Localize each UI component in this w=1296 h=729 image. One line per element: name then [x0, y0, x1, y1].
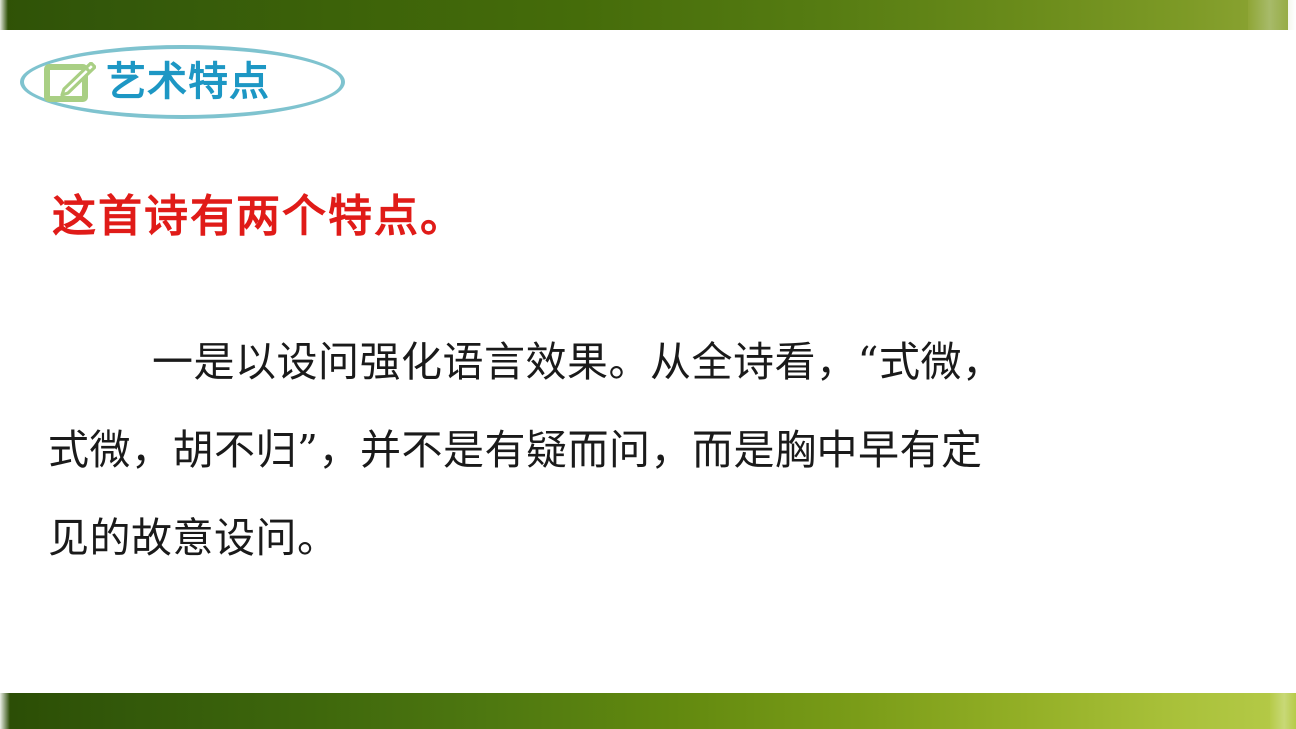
slide: 艺术特点 这首诗有两个特点。 一是以设问强化语言效果。从全诗看，“式微， 式微，… [0, 0, 1296, 729]
note-pencil-icon [44, 62, 96, 103]
top-bar-left-edge [0, 0, 8, 30]
top-decorative-bar [0, 0, 1288, 30]
bottom-bar-left-edge [0, 693, 10, 729]
section-title-badge: 艺术特点 [20, 45, 345, 119]
body-paragraph: 一是以设问强化语言效果。从全诗看，“式微， 式微，胡不归”，并不是有疑而问，而是… [48, 318, 1200, 582]
top-bar-right-fade [1248, 0, 1296, 30]
bottom-decorative-bar [0, 693, 1296, 729]
bottom-bar-right-fade [1270, 693, 1296, 729]
body-line-3: 见的故意设问。 [48, 494, 1200, 582]
red-heading: 这首诗有两个特点。 [52, 195, 466, 239]
body-line-1-text: 一是以设问强化语言效果。从全诗看，“式微， [152, 338, 1003, 386]
body-line-2: 式微，胡不归”，并不是有疑而问，而是胸中早有定 [48, 406, 1200, 494]
section-title-label: 艺术特点 [106, 62, 270, 102]
body-line-1: 一是以设问强化语言效果。从全诗看，“式微， [48, 318, 1200, 406]
